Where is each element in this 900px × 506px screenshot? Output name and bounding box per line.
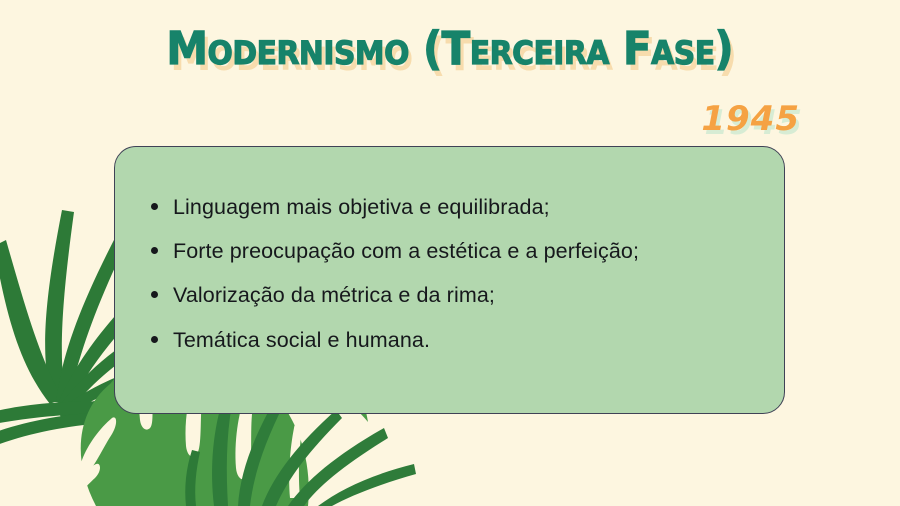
bullet-dot-icon xyxy=(151,203,158,210)
slide-year: 1945 xyxy=(0,99,800,139)
title-container: Modernismo (Terceira Fase) xyxy=(0,26,900,71)
palm-frond-fan-lower-icon xyxy=(212,398,416,506)
slide-canvas: Modernismo (Terceira Fase) 1945 Linguage… xyxy=(0,0,900,506)
bullet-dot-icon xyxy=(151,247,158,254)
list-item: Linguagem mais objetiva e equilibrada; xyxy=(151,194,784,220)
bullet-dot-icon xyxy=(151,336,158,343)
list-item-label: Valorização da métrica e da rima; xyxy=(173,283,495,307)
list-item: Temática social e humana. xyxy=(151,327,784,353)
list-item: Forte preocupação com a estética e a per… xyxy=(151,238,784,264)
list-item: Valorização da métrica e da rima; xyxy=(151,282,784,308)
list-item-label: Forte preocupação com a estética e a per… xyxy=(173,239,639,263)
bullet-dot-icon xyxy=(151,291,158,298)
bullet-list: Linguagem mais objetiva e equilibrada; F… xyxy=(115,147,784,353)
content-box: Linguagem mais objetiva e equilibrada; F… xyxy=(114,146,785,414)
list-item-label: Temática social e humana. xyxy=(173,328,430,352)
palm-frond-blades-bottom-icon xyxy=(185,450,200,506)
slide-title: Modernismo (Terceira Fase) xyxy=(167,26,734,71)
list-item-label: Linguagem mais objetiva e equilibrada; xyxy=(173,195,550,219)
